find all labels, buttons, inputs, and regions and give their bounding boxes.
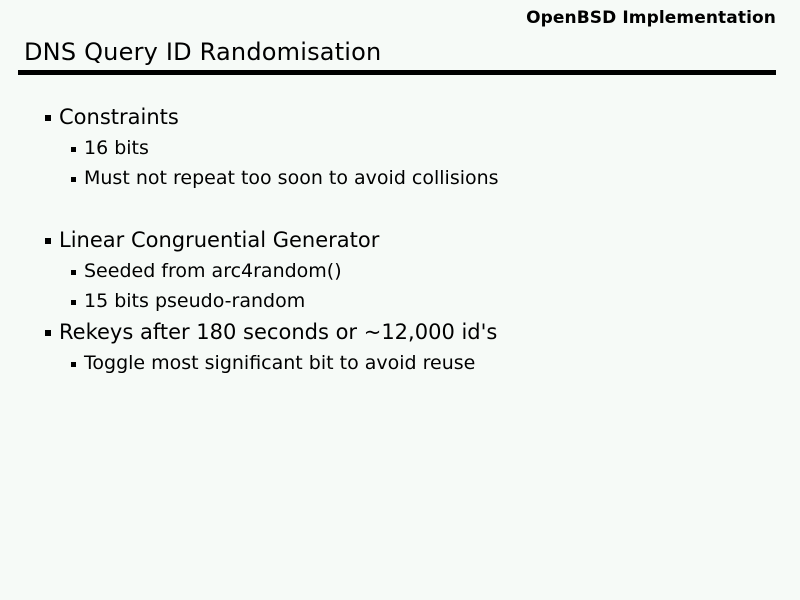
title-divider: [18, 70, 776, 75]
sub-bullet-item-seeded-arc4random: Seeded from arc4random(): [0, 259, 800, 289]
square-bullet-icon: [45, 115, 51, 121]
sub-bullet-item-16-bits: 16 bits: [0, 136, 800, 166]
bullet-item-constraints: Constraints: [0, 104, 800, 136]
bullet-item-rekeys: Rekeys after 180 seconds or ~12,000 id's: [0, 319, 800, 351]
square-bullet-icon: [71, 362, 76, 367]
square-bullet-icon: [45, 330, 51, 336]
bullet-group-rekeys: Rekeys after 180 seconds or ~12,000 id's…: [0, 319, 800, 381]
square-bullet-icon: [71, 147, 76, 152]
slide-header: OpenBSD Implementation: [0, 8, 776, 28]
bullet-label: Rekeys after 180 seconds or ~12,000 id's: [59, 319, 497, 345]
square-bullet-icon: [45, 238, 51, 244]
bullet-label: Linear Congruential Generator: [59, 227, 379, 253]
square-bullet-icon: [71, 270, 76, 275]
sub-bullet-item-no-repeat: Must not repeat too soon to avoid collis…: [0, 166, 800, 196]
square-bullet-icon: [71, 177, 76, 182]
sub-bullet-item-toggle-msb: Toggle most significant bit to avoid reu…: [0, 351, 800, 381]
slide: OpenBSD Implementation DNS Query ID Rand…: [0, 0, 800, 600]
bullet-item-linear-congruential-generator: Linear Congruential Generator: [0, 227, 800, 259]
bullet-group-lcg: Linear Congruential Generator Seeded fro…: [0, 227, 800, 319]
sub-bullet-label: 15 bits pseudo-random: [84, 289, 305, 313]
sub-bullet-item-15-bits-pseudo-random: 15 bits pseudo-random: [0, 289, 800, 319]
sub-bullet-label: Must not repeat too soon to avoid collis…: [84, 166, 499, 190]
slide-body: Constraints 16 bits Must not repeat too …: [0, 104, 800, 600]
sub-bullet-label: Seeded from arc4random(): [84, 259, 342, 283]
sub-bullet-label: 16 bits: [84, 136, 149, 160]
square-bullet-icon: [71, 300, 76, 305]
bullet-group-constraints: Constraints 16 bits Must not repeat too …: [0, 104, 800, 196]
page-title: DNS Query ID Randomisation: [24, 38, 381, 66]
sub-bullet-label: Toggle most significant bit to avoid reu…: [84, 351, 475, 375]
bullet-label: Constraints: [59, 104, 179, 130]
